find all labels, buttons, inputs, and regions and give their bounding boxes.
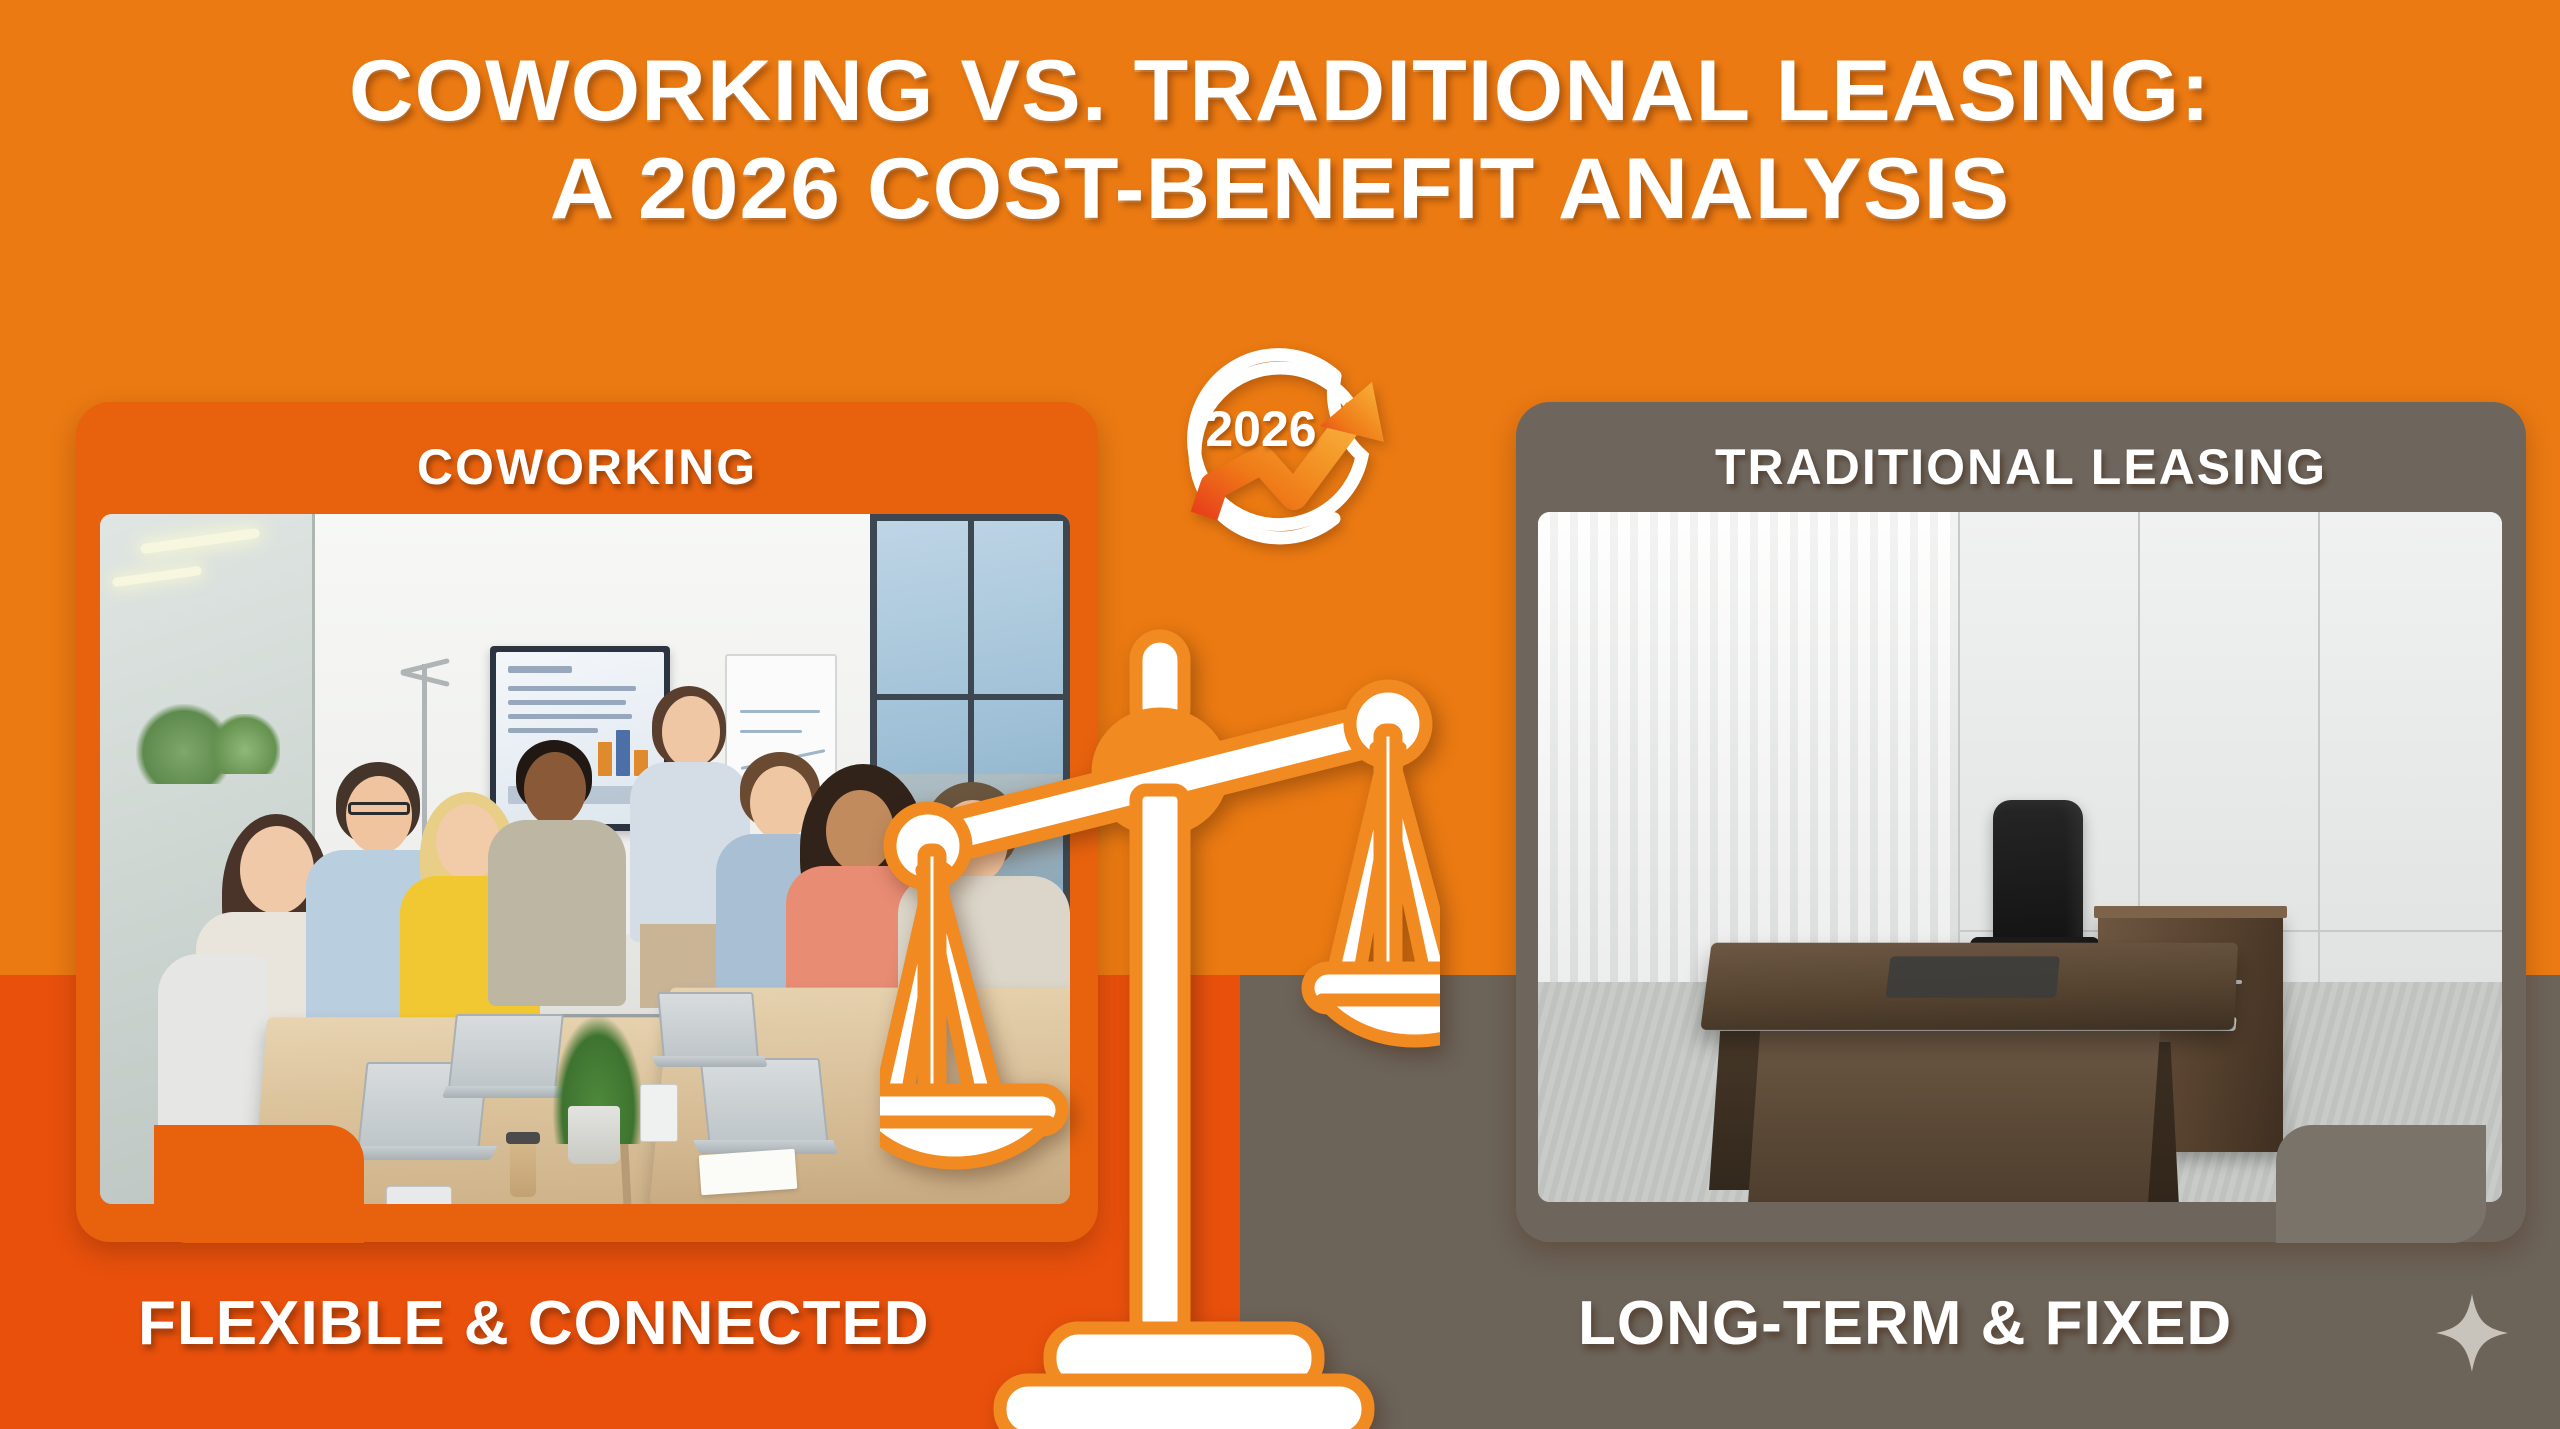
balance-scale-icon (880, 620, 1440, 1429)
card-corner-notch (154, 1125, 364, 1243)
title-line-1: COWORKING VS. TRADITIONAL LEASING: (0, 48, 2560, 136)
traditional-office-photo (1538, 512, 2502, 1202)
growth-arrow-icon (1162, 338, 1422, 568)
card-title-coworking: COWORKING (76, 438, 1098, 496)
card-corner-notch (2276, 1125, 2486, 1243)
card-title-traditional-leasing: TRADITIONAL LEASING (1516, 438, 2526, 496)
caption-coworking: FLEXIBLE & CONNECTED (138, 1288, 930, 1359)
sparkle-icon (2434, 1292, 2510, 1374)
title-line-2: A 2026 COST-BENEFIT ANALYSIS (0, 146, 2560, 234)
desk-front (1746, 1027, 2161, 1202)
card-traditional-leasing[interactable]: TRADITIONAL LEASING (1516, 402, 2526, 1242)
caption-traditional-leasing: LONG-TERM & FIXED (1578, 1288, 2232, 1359)
page-title: COWORKING VS. TRADITIONAL LEASING: A 202… (0, 48, 2560, 233)
year-growth-badge: 2026 (1162, 338, 1422, 568)
